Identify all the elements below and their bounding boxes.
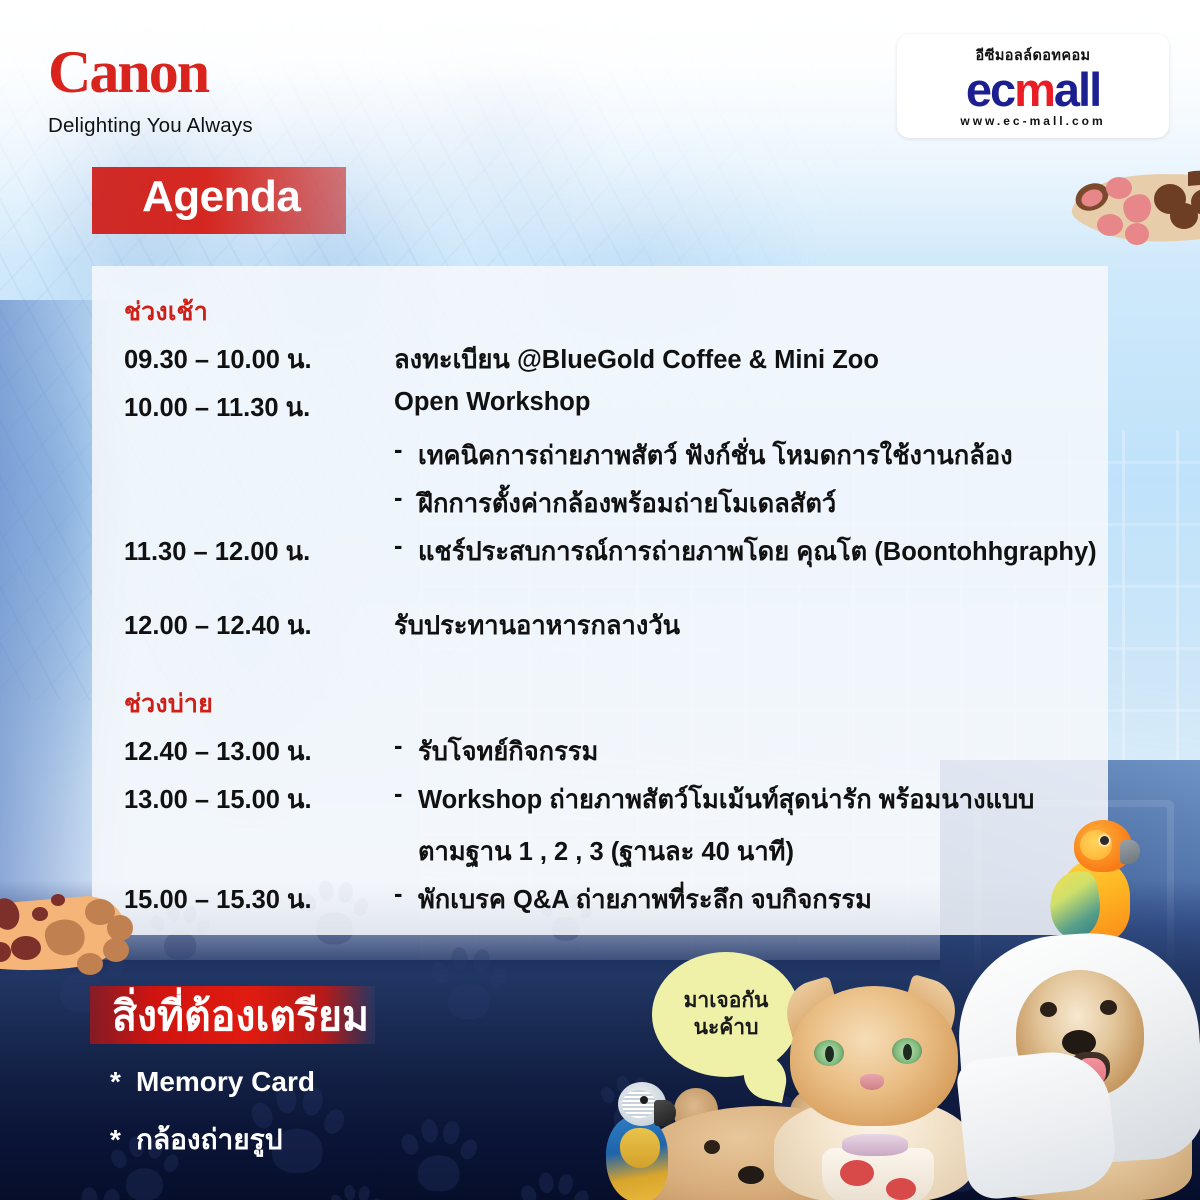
ecmall-m-text: m — [1014, 63, 1054, 116]
canon-logo: Canon Delighting You Always — [48, 42, 308, 138]
macaw-bib — [620, 1128, 660, 1168]
agenda-row-dash: - — [394, 436, 403, 465]
cat-paw-icon — [1062, 168, 1200, 260]
agenda-row-time: 11.30 – 12.00 น. — [124, 532, 360, 572]
agenda-banner-label: Agenda — [142, 172, 300, 222]
hooded-dog-left-eye — [1040, 1002, 1057, 1017]
agenda-row-dash: - — [394, 732, 403, 761]
canon-wordmark: Canon — [48, 42, 308, 102]
agenda-row-dash: - — [394, 880, 403, 909]
ecmall-url: www.ec-mall.com — [960, 114, 1105, 128]
dog-nose — [738, 1166, 764, 1184]
macaw-parrot-image — [604, 1082, 682, 1200]
cat-paw-icon-secondary — [0, 886, 142, 982]
prepare-item: *กล้องถ่ายรูป — [110, 1118, 283, 1162]
prepare-banner-label: สิ่งที่ต้องเตรียม — [112, 984, 369, 1049]
hooded-dog-right-eye — [1100, 1000, 1117, 1015]
dog-left-eye — [704, 1140, 720, 1154]
agenda-section-heading: ช่วงบ่าย — [124, 684, 213, 724]
macaw-eye — [640, 1096, 648, 1104]
hooded-dog-image — [960, 934, 1200, 1200]
poster-canvas: Canon Delighting You Always อีซีมอลล์ดอท… — [0, 0, 1200, 1200]
agenda-row-time: 13.00 – 15.00 น. — [124, 780, 360, 820]
prepare-item-label: Memory Card — [136, 1066, 315, 1097]
prepare-item: *Memory Card — [110, 1066, 315, 1098]
bullet-star-icon: * — [110, 1124, 136, 1156]
ecmall-all-text: all — [1054, 63, 1100, 116]
speech-bubble-line2: นะค้าบ — [684, 1015, 769, 1041]
persian-cat-image — [780, 986, 970, 1200]
agenda-row-time: 12.00 – 12.40 น. — [124, 606, 360, 646]
agenda-row-description: ตามฐาน 1 , 2 , 3 (ฐานละ 40 นาที) — [418, 832, 794, 872]
agenda-row-description: ฝึกการตั้งค่ากล้องพร้อมถ่ายโมเดลสัตว์ — [418, 484, 836, 524]
agenda-row-description: พักเบรค Q&A ถ่ายภาพที่ระลึก จบกิจกรรม — [418, 880, 872, 920]
agenda-row-description: เทคนิคการถ่ายภาพสัตว์ ฟังก์ชั่น โหมดการใ… — [418, 436, 1013, 476]
macaw-eye-patch — [622, 1090, 656, 1118]
speech-bubble: มาเจอกัน นะค้าบ — [652, 952, 800, 1077]
cat-bib-dot — [840, 1160, 874, 1186]
bullet-star-icon: * — [110, 1066, 136, 1098]
cat-right-pupil — [903, 1044, 912, 1060]
ecmall-logo: อีซีมอลล์ดอทคอม ecmall www.ec-mall.com — [897, 34, 1169, 138]
cat-nose — [860, 1074, 884, 1090]
speech-bubble-text: มาเจอกัน นะค้าบ — [684, 988, 769, 1041]
agenda-row-time: 10.00 – 11.30 น. — [124, 388, 360, 428]
agenda-row-dash: - — [394, 484, 403, 513]
agenda-panel: ช่วงเช้า09.30 – 10.00 น.ลงทะเบียน @BlueG… — [92, 266, 1108, 935]
speech-bubble-line1: มาเจอกัน — [684, 988, 769, 1014]
canon-tagline: Delighting You Always — [48, 114, 308, 138]
ecmall-wordmark: ecmall — [966, 65, 1100, 114]
agenda-banner: Agenda — [92, 167, 346, 234]
agenda-row-description: ลงทะเบียน @BlueGold Coffee & Mini Zoo — [394, 340, 879, 380]
cat-collar — [842, 1134, 908, 1156]
hooded-dog-cloth-front — [955, 1047, 1119, 1200]
agenda-row-description: รับโจทย์กิจกรรม — [418, 732, 598, 772]
ecmall-ec-text: ec — [966, 63, 1014, 116]
agenda-body: ช่วงเช้า09.30 – 10.00 น.ลงทะเบียน @BlueG… — [92, 266, 1108, 935]
agenda-row-description: แชร์ประสบการณ์การถ่ายภาพโดย คุณโต (Boont… — [418, 532, 1097, 572]
cat-left-pupil — [825, 1046, 834, 1062]
agenda-row-description: Open Workshop — [394, 388, 590, 417]
agenda-row-description: Workshop ถ่ายภาพสัตว์โมเม้นท์สุดน่ารัก พ… — [418, 780, 1034, 820]
parrot-eye — [1100, 836, 1109, 845]
cat-bib-dot — [886, 1178, 916, 1200]
agenda-row-description: รับประทานอาหารกลางวัน — [394, 606, 680, 646]
agenda-section-heading: ช่วงเช้า — [124, 292, 208, 332]
prepare-banner: สิ่งที่ต้องเตรียม — [90, 986, 375, 1044]
parrot-beak — [1120, 840, 1140, 864]
parrot-cheek — [1080, 830, 1112, 860]
agenda-row-dash: - — [394, 532, 403, 561]
prepare-item-label: กล้องถ่ายรูป — [136, 1124, 283, 1155]
agenda-row-dash: - — [394, 780, 403, 809]
agenda-row-time: 12.40 – 13.00 น. — [124, 732, 360, 772]
agenda-row-time: 15.00 – 15.30 น. — [124, 880, 360, 920]
macaw-beak — [654, 1100, 676, 1126]
agenda-row-time: 09.30 – 10.00 น. — [124, 340, 360, 380]
